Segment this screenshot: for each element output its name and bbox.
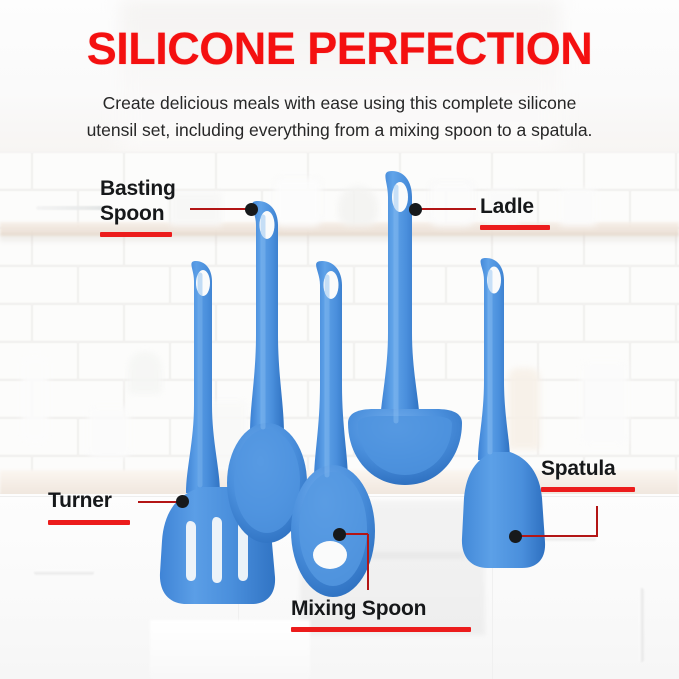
leader-line-mixing-spoon-vertical: [367, 534, 369, 590]
callout-label-mixing-spoon: Mixing Spoon: [291, 596, 471, 621]
callout-rule-basting-spoon: [100, 232, 172, 237]
callout-basting-spoon: Basting Spoon: [100, 176, 196, 237]
callout-rule-mixing-spoon: [291, 627, 471, 632]
callout-rule-ladle: [480, 225, 550, 230]
callout-turner: Turner: [48, 488, 130, 525]
leader-line-ladle: [418, 208, 476, 210]
callout-ladle: Ladle: [480, 194, 550, 230]
page-subtitle: Create delicious meals with ease using t…: [0, 90, 679, 144]
leader-line-basting-spoon: [190, 208, 252, 210]
leader-line-spatula-horizontal: [519, 535, 597, 537]
callout-rule-spatula: [541, 487, 635, 492]
callout-label-spatula: Spatula: [541, 456, 635, 481]
product-infographic: Basting Spoon Ladle Turner Spatula Mixin…: [0, 0, 679, 679]
subtitle-line-2: utensil set, including everything from a…: [0, 117, 679, 144]
leader-dot-turner: [176, 495, 189, 508]
callout-mixing-spoon: Mixing Spoon: [291, 596, 471, 632]
utensil-spatula[interactable]: [448, 252, 558, 582]
callout-label-line2: Spoon: [100, 201, 196, 226]
callout-label-basting-spoon: Basting Spoon: [100, 176, 196, 226]
leader-dot-ladle: [409, 203, 422, 216]
callout-label-line1: Basting: [100, 176, 196, 201]
callout-rule-turner: [48, 520, 130, 525]
leader-dot-basting-spoon: [245, 203, 258, 216]
leader-dot-mixing-spoon: [333, 528, 346, 541]
subtitle-line-1: Create delicious meals with ease using t…: [0, 90, 679, 117]
callout-label-turner: Turner: [48, 488, 130, 513]
page-title: SILICONE PERFECTION: [0, 26, 679, 71]
callout-spatula: Spatula: [541, 456, 635, 492]
leader-dot-spatula: [509, 530, 522, 543]
callout-label-ladle: Ladle: [480, 194, 550, 219]
leader-line-spatula-vertical: [596, 506, 598, 537]
